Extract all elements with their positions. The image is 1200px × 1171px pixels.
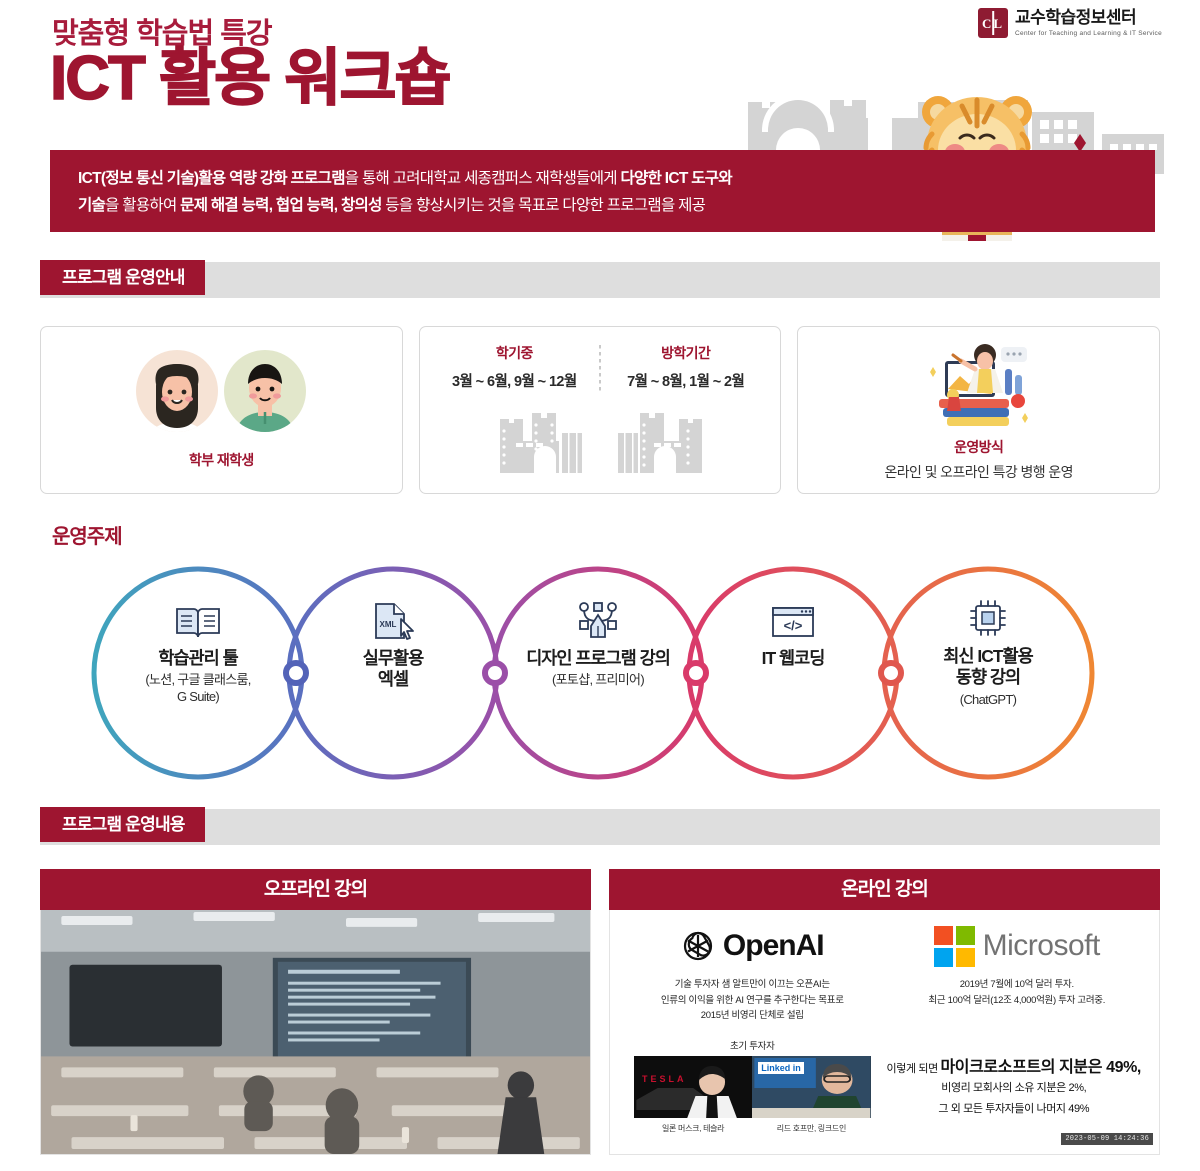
openai-desc-line1: 기술 투자자 샘 알트만이 이끄는 오픈AI는 — [625, 977, 879, 993]
section-tag-guide: 프로그램 운영안내 — [40, 260, 205, 295]
content-panels: 오프라인 강의 — [40, 869, 1160, 1155]
investor-caption-left: 일론 머스크, 테슬라 — [634, 1123, 752, 1134]
svg-text:</>: </> — [784, 618, 803, 633]
svg-text:XML: XML — [380, 620, 397, 629]
card-target-audience: 학부 재학생 — [40, 326, 403, 494]
microsoft-logo — [934, 926, 975, 967]
page-title: ICT 활용 워크숍 — [50, 48, 450, 110]
code-window-icon: </> — [693, 597, 893, 641]
topic-sub-design: (포토샵, 프리미어) — [498, 672, 698, 689]
panel-offline: 오프라인 강의 — [40, 869, 591, 1155]
topic-title-webcoding: IT 웹코딩 — [693, 648, 893, 669]
microsoft-desc-line1: 2019년 7월에 10억 달러 투자. — [890, 977, 1144, 993]
topic-item-webcoding[interactable]: </> IT 웹코딩 — [693, 597, 893, 672]
open-book-icon — [98, 597, 298, 641]
investor-caption-right: 리드 호프만, 링크드인 — [752, 1123, 870, 1134]
stake-line3: 그 외 모든 투자자들이 나머지 49% — [885, 1101, 1144, 1119]
intro-line2-strong: 기술 — [78, 197, 105, 214]
topic-circles: 학습관리 툴 (노션, 구글 클래스룸, G Suite) XML 실무활용 엑… — [0, 555, 1200, 795]
topic-item-excel[interactable]: XML 실무활용 엑셀 — [293, 597, 493, 694]
classroom-lecture-photo — [40, 910, 591, 1155]
openai-desc-line3: 2015년 비영리 단체로 설립 — [625, 1008, 879, 1024]
linkedin-wordmark: Linked in — [758, 1062, 804, 1074]
intro-line2-tail: 등을 향상시키는 것을 목표로 다양한 프로그램을 제공 — [382, 197, 706, 214]
avatar-female — [136, 350, 218, 432]
microsoft-block: Microsoft 2019년 7월에 10억 달러 투자. 최근 100억 달… — [890, 924, 1144, 1008]
card-label-method: 운영방식 — [954, 437, 1003, 457]
intro-line1-strong2: 다양한 ICT 도구와 — [620, 170, 731, 187]
microsoft-desc-line2: 최근 100억 달러(12조 4,000억원) 투자 고려중. — [890, 993, 1144, 1009]
stake-line1-pre: 이렇게 되면 — [887, 1063, 941, 1075]
card-operation-method: 운영방식 온라인 및 오프라인 특강 병행 운영 — [797, 326, 1160, 494]
term-semester: 학기중 3월 ~ 6월, 9월 ~ 12월 — [430, 343, 599, 391]
intro-banner-line2: 기술을 활용하여 문제 해결 능력, 협업 능력, 창의성 등을 향상시키는 것… — [78, 193, 1127, 220]
university-gate-icon — [496, 405, 704, 477]
openai-desc-line2: 인류의 이익을 위한 AI 연구를 추구한다는 목표로 — [625, 993, 879, 1009]
early-investors-block: 초기 투자자 TESLA — [620, 1038, 885, 1134]
student-avatars-icon — [136, 350, 306, 432]
topic-item-design[interactable]: 디자인 프로그램 강의 (포토샵, 프리미어) — [498, 597, 698, 689]
schedule-terms: 학기중 3월 ~ 6월, 9월 ~ 12월 방학기간 7월 ~ 8월, 1월 ~… — [420, 343, 781, 393]
topic-title-lms: 학습관리 툴 — [98, 648, 298, 669]
card-schedule: 학기중 3월 ~ 6월, 9월 ~ 12월 방학기간 7월 ~ 8월, 1월 ~… — [419, 326, 782, 494]
avatar-male — [224, 350, 306, 432]
ctl-logo-name-en: Center for Teaching and Learning & IT Se… — [1015, 30, 1162, 37]
panel-head-online: 온라인 강의 — [609, 869, 1160, 910]
online-teacher-icon — [919, 339, 1039, 431]
section-tag-content: 프로그램 운영내용 — [40, 807, 205, 842]
reid-hoffman-linkedin-photo: Linked in — [752, 1056, 870, 1118]
openai-block: OpenAI 기술 투자자 샘 알트만이 이끄는 오픈AI는 인류의 이익을 위… — [625, 924, 879, 1024]
microsoft-desc: 2019년 7월에 10억 달러 투자. 최근 100억 달러(12조 4,00… — [890, 977, 1144, 1008]
card-label-target: 학부 재학생 — [189, 450, 254, 470]
intro-line2-mid: 을 활용하여 — [105, 197, 180, 214]
section-header-guide: 프로그램 운영안내 — [40, 262, 1160, 298]
intro-line1-strong: ICT(정보 통신 기술)활용 역량 강화 프로그램 — [78, 170, 345, 187]
topic-sub-ict-trend: (ChatGPT) — [888, 692, 1088, 709]
section-label-topics: 운영주제 — [52, 520, 1200, 549]
cpu-chip-icon — [888, 595, 1088, 639]
early-investors-title: 초기 투자자 — [620, 1038, 885, 1052]
elon-musk-tesla-photo: TESLA — [634, 1056, 752, 1118]
intro-banner: ICT(정보 통신 기술)활용 역량 강화 프로그램을 통해 고려대학교 세종캠… — [50, 150, 1155, 232]
ctl-logo-letters: CL — [982, 17, 1004, 30]
term-semester-value: 3월 ~ 6월, 9월 ~ 12월 — [430, 370, 599, 391]
guide-cards: 학부 재학생 학기중 3월 ~ 6월, 9월 ~ 12월 방학기간 7월 ~ 8… — [40, 326, 1160, 494]
term-vacation-head: 방학기간 — [601, 343, 770, 363]
ctl-logo-name-kr: 교수학습정보센터 — [1015, 9, 1162, 28]
poster-root: CL 교수학습정보센터 Center for Teaching and Lear… — [0, 0, 1200, 1171]
xml-file-cursor-icon: XML — [293, 597, 493, 641]
stake-line1-bold: 마이크로소프트의 지분은 49%, — [940, 1059, 1140, 1076]
panel-head-offline: 오프라인 강의 — [40, 869, 591, 910]
topic-title-ict-trend: 최신 ICT활용 동향 강의 — [888, 646, 1088, 689]
topic-sub-lms: (노션, 구글 클래스룸, G Suite) — [98, 672, 298, 706]
stake-line1: 이렇게 되면 마이크로소프트의 지분은 49%, — [885, 1053, 1144, 1077]
section-header-content: 프로그램 운영내용 — [40, 809, 1160, 845]
openai-logo — [681, 929, 715, 963]
microsoft-brand-name: Microsoft — [983, 929, 1100, 963]
topic-item-lms[interactable]: 학습관리 툴 (노션, 구글 클래스룸, G Suite) — [98, 597, 298, 706]
poster-header: CL 교수학습정보센터 Center for Teaching and Lear… — [0, 0, 1200, 262]
topic-title-design: 디자인 프로그램 강의 — [498, 648, 698, 669]
term-vacation: 방학기간 7월 ~ 8월, 1월 ~ 2월 — [601, 343, 770, 391]
topic-item-ict-trend[interactable]: 최신 ICT활용 동향 강의 (ChatGPT) — [888, 595, 1088, 709]
stake-block: 이렇게 되면 마이크로소프트의 지분은 49%, 비영리 모회사의 소유 지분은… — [885, 1053, 1150, 1118]
slide-timestamp: 2023-05-09 14:24:36 — [1061, 1133, 1153, 1145]
pen-tool-icon — [498, 597, 698, 641]
tesla-wordmark: TESLA — [642, 1074, 687, 1084]
intro-banner-line1: ICT(정보 통신 기술)활용 역량 강화 프로그램을 통해 고려대학교 세종캠… — [78, 166, 1127, 193]
ctl-logo-mark-icon: CL — [978, 8, 1008, 38]
panel-online: 온라인 강의 — [609, 869, 1160, 1155]
term-vacation-value: 7월 ~ 8월, 1월 ~ 2월 — [601, 370, 770, 391]
online-lecture-slide: OpenAI 기술 투자자 샘 알트만이 이끄는 오픈AI는 인류의 이익을 위… — [609, 910, 1160, 1155]
stake-line2: 비영리 모회사의 소유 지분은 2%, — [885, 1080, 1144, 1098]
ctl-logo: CL 교수학습정보센터 Center for Teaching and Lear… — [978, 8, 1162, 38]
intro-line1-mid: 을 통해 고려대학교 세종캠퍼스 재학생들에게 — [345, 170, 621, 187]
openai-brand-name: OpenAI — [723, 929, 824, 963]
card-sub-method: 온라인 및 오프라인 특강 병행 운영 — [884, 462, 1072, 482]
term-semester-head: 학기중 — [430, 343, 599, 363]
topic-title-excel: 실무활용 엑셀 — [293, 648, 493, 691]
openai-desc: 기술 투자자 샘 알트만이 이끄는 오픈AI는 인류의 이익을 위한 AI 연구… — [625, 977, 879, 1024]
intro-line2-strong2: 문제 해결 능력, 협업 능력, 창의성 — [180, 197, 382, 214]
